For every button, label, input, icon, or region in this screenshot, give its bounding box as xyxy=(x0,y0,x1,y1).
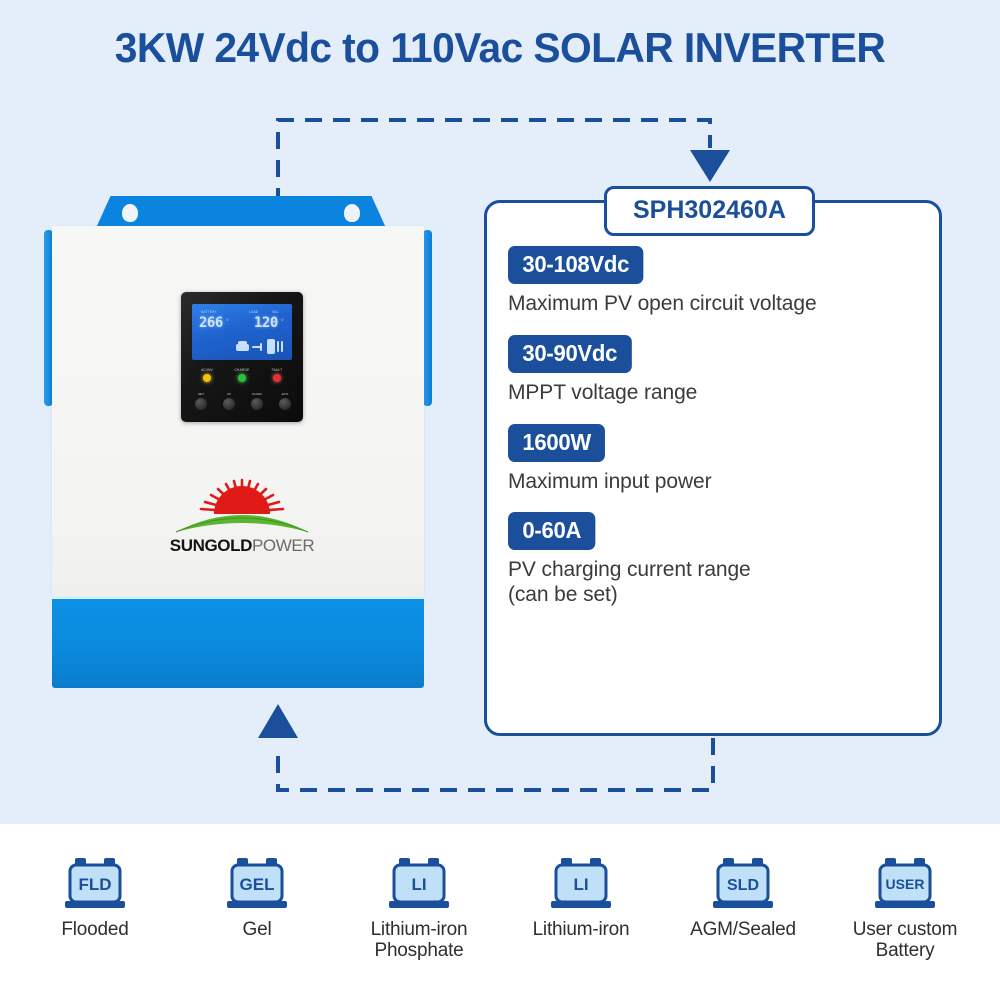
battery-code: LI xyxy=(573,875,588,894)
button-down-circle[interactable] xyxy=(251,398,263,410)
button-down-label: DOWN xyxy=(245,392,268,396)
arrow-up-icon xyxy=(258,704,298,738)
battery-type-label: Lithium-iron xyxy=(501,919,661,940)
heatsink-fin-right xyxy=(423,230,432,406)
button-exit-label: EXIT xyxy=(273,392,296,396)
spec-row: 30-90Vdc MPPT voltage range xyxy=(508,335,938,406)
battery-type-item: GEL Gel xyxy=(177,856,337,940)
battery-code: USER xyxy=(886,876,925,892)
spec-description: PV charging current range(can be set) xyxy=(508,558,938,608)
battery-type-item: LI Lithium-iron xyxy=(501,856,661,940)
battery-code: GEL xyxy=(240,875,275,894)
sunburst-icon xyxy=(156,474,328,536)
battery-icon: LI xyxy=(545,856,617,914)
button-exit[interactable]: EXIT xyxy=(272,392,298,410)
spec-value-badge: 30-90Vdc xyxy=(508,335,631,373)
battery-type-item: SLD AGM/Sealed xyxy=(663,856,823,940)
button-set[interactable]: SET xyxy=(188,392,214,410)
control-buttons: SET UP DOWN EXIT xyxy=(186,392,298,418)
battery-type-label: Flooded xyxy=(15,919,175,940)
spec-value-badge: 1600W xyxy=(508,424,605,462)
led-indicators: AC/INV CHARGE FAULT xyxy=(187,368,297,388)
battery-type-label: User customBattery xyxy=(825,919,985,962)
battery-type-label: Gel xyxy=(177,919,337,940)
battery-icon: FLD xyxy=(59,856,131,914)
brand-secondary: POWER xyxy=(252,536,314,555)
battery-code: SLD xyxy=(727,877,759,894)
lcd-left-unit: V xyxy=(226,317,229,322)
battery-type-item: LI Lithium-ironPhosphate xyxy=(339,856,499,962)
battery-icon: USER xyxy=(869,856,941,914)
lcd-flow-icons xyxy=(236,337,290,357)
model-number-badge: SPH302460A xyxy=(604,186,815,236)
lcd-right-label-a: LOAD xyxy=(249,310,258,314)
spec-description: MPPT voltage range xyxy=(508,381,938,406)
spec-value-badge: 30-108Vdc xyxy=(508,246,643,284)
brand-logo-text: SUNGOLDPOWER xyxy=(156,536,328,556)
button-set-label: SET xyxy=(189,392,212,396)
mounting-bracket xyxy=(96,196,386,228)
battery-type-label: AGM/Sealed xyxy=(663,919,823,940)
button-set-circle[interactable] xyxy=(195,398,207,410)
led-charge-label: CHARGE xyxy=(226,368,258,372)
spec-row: 1600W Maximum input power xyxy=(508,424,938,495)
led-fault-dot xyxy=(273,374,281,382)
battery-type-label: Lithium-ironPhosphate xyxy=(339,919,499,962)
spec-row: 30-108Vdc Maximum PV open circuit voltag… xyxy=(508,246,938,317)
spec-row: 0-60A PV charging current range(can be s… xyxy=(508,512,938,608)
battery-icon: SLD xyxy=(707,856,779,914)
led-charge-dot xyxy=(238,374,246,382)
inverter-base-panel xyxy=(52,596,424,688)
product-image-inverter: BATTERY 266 V LOAD VAC 120 V xyxy=(38,196,438,696)
button-exit-circle[interactable] xyxy=(279,398,291,410)
brand-primary: SUNGOLD xyxy=(170,536,252,555)
battery-code: FLD xyxy=(78,875,111,894)
arrow-down-icon xyxy=(690,150,730,182)
battery-type-list: FLD Flooded GEL Gel LI Lithium-ironPh xyxy=(0,856,1000,996)
button-up[interactable]: UP xyxy=(216,392,242,410)
led-ac-inv: AC/INV xyxy=(189,368,225,382)
battery-icon: GEL xyxy=(221,856,293,914)
lcd-right-value: 120 xyxy=(254,315,278,331)
battery-type-item: FLD Flooded xyxy=(15,856,175,940)
led-charge: CHARGE xyxy=(224,368,260,382)
lcd-display: BATTERY 266 V LOAD VAC 120 V xyxy=(192,304,292,360)
spec-list: 30-108Vdc Maximum PV open circuit voltag… xyxy=(508,246,938,626)
connector-line-bottom xyxy=(278,738,713,790)
spec-value-badge: 0-60A xyxy=(508,512,596,550)
spec-description: Maximum PV open circuit voltage xyxy=(508,292,938,317)
battery-type-item: USER User customBattery xyxy=(825,856,985,962)
control-panel: BATTERY 266 V LOAD VAC 120 V xyxy=(181,292,303,422)
brand-logo: SUNGOLDPOWER xyxy=(156,474,328,566)
lcd-right-label-b: VAC xyxy=(272,310,279,314)
battery-code: LI xyxy=(411,875,426,894)
button-up-circle[interactable] xyxy=(223,398,235,410)
inverter-base-divider xyxy=(52,596,424,599)
lcd-right-unit: V xyxy=(281,317,284,322)
led-ac-inv-label: AC/INV xyxy=(191,368,223,372)
infographic-canvas: 3KW 24Vdc to 110Vac SOLAR INVERTER BATTE… xyxy=(0,0,1000,1000)
bracket-keyhole-left xyxy=(122,204,138,222)
button-down[interactable]: DOWN xyxy=(244,392,270,410)
led-ac-inv-dot xyxy=(203,374,211,382)
led-fault: FAULT xyxy=(259,368,295,382)
button-up-label: UP xyxy=(217,392,240,396)
led-fault-label: FAULT xyxy=(261,368,293,372)
battery-icon: LI xyxy=(383,856,455,914)
bracket-keyhole-right xyxy=(344,204,360,222)
lcd-left-value: 266 xyxy=(199,315,223,331)
lcd-left-label: BATTERY xyxy=(201,310,217,314)
spec-description: Maximum input power xyxy=(508,470,938,495)
